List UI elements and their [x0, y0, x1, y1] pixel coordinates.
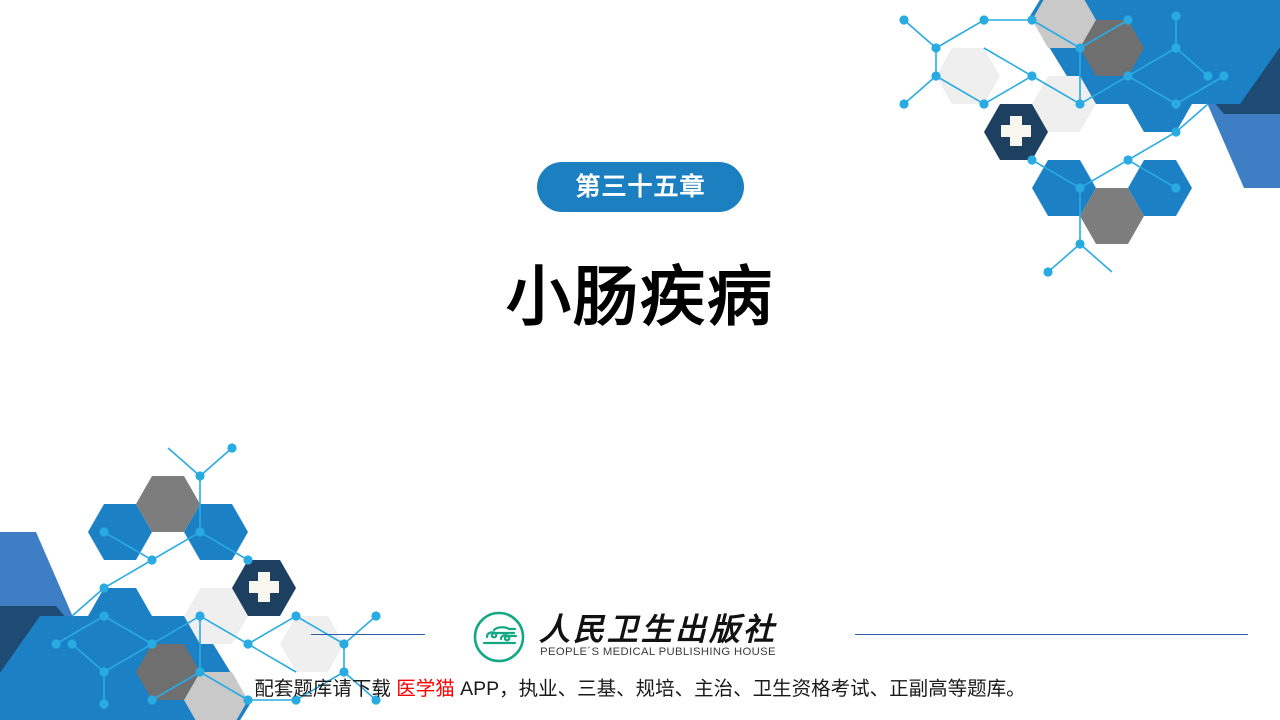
footer-accent-brand: 医学猫	[396, 678, 455, 700]
page-title: 小肠疾病	[0, 262, 1280, 332]
divider-right	[855, 634, 1248, 635]
connector-nodes	[899, 0, 1228, 277]
footer-promo-text: 配套题库请下载 医学猫 APP，执业、三基、规培、主治、卫生资格考试、正副高等题…	[0, 678, 1280, 701]
publisher-emblem-icon	[470, 610, 528, 664]
divider-left	[311, 634, 425, 635]
slide-canvas: 第三十五章 小肠疾病 人民卫生出版社 PEOPLE´S MEDICAL PUBL…	[0, 0, 1280, 720]
publisher-wordmarks: 人民卫生出版社 PEOPLE´S MEDICAL PUBLISHING HOUS…	[539, 615, 777, 658]
chevron-group	[1030, 0, 1280, 188]
chevron-blue	[0, 616, 250, 720]
chevron-steel	[1184, 50, 1280, 188]
chevron-steel	[0, 532, 96, 670]
chevron-blue	[1030, 0, 1280, 104]
chevron-navy	[0, 606, 134, 720]
connector-lines	[904, 0, 1224, 272]
footer-text-before: 配套题库请下载	[254, 678, 396, 700]
chapter-badge: 第三十五章	[537, 162, 744, 212]
chapter-badge-label: 第三十五章	[575, 175, 705, 200]
medical-cross-icon	[1001, 116, 1031, 146]
decoration-bottom-left	[0, 382, 396, 720]
cross-hexagon	[984, 104, 1048, 160]
chevron-navy	[1146, 0, 1280, 114]
publisher-name-cn: 人民卫生出版社	[539, 615, 777, 646]
publisher-logo: 人民卫生出版社 PEOPLE´S MEDICAL PUBLISHING HOUS…	[470, 606, 820, 668]
medical-cross-icon	[249, 572, 279, 602]
footer-text-after: APP，执业、三基、规培、主治、卫生资格考试、正副高等题库。	[455, 678, 1026, 700]
publisher-name-en: PEOPLE´S MEDICAL PUBLISHING HOUSE	[540, 647, 776, 658]
hexagon-lattice	[936, 0, 1192, 244]
cross-hexagon	[232, 560, 296, 616]
